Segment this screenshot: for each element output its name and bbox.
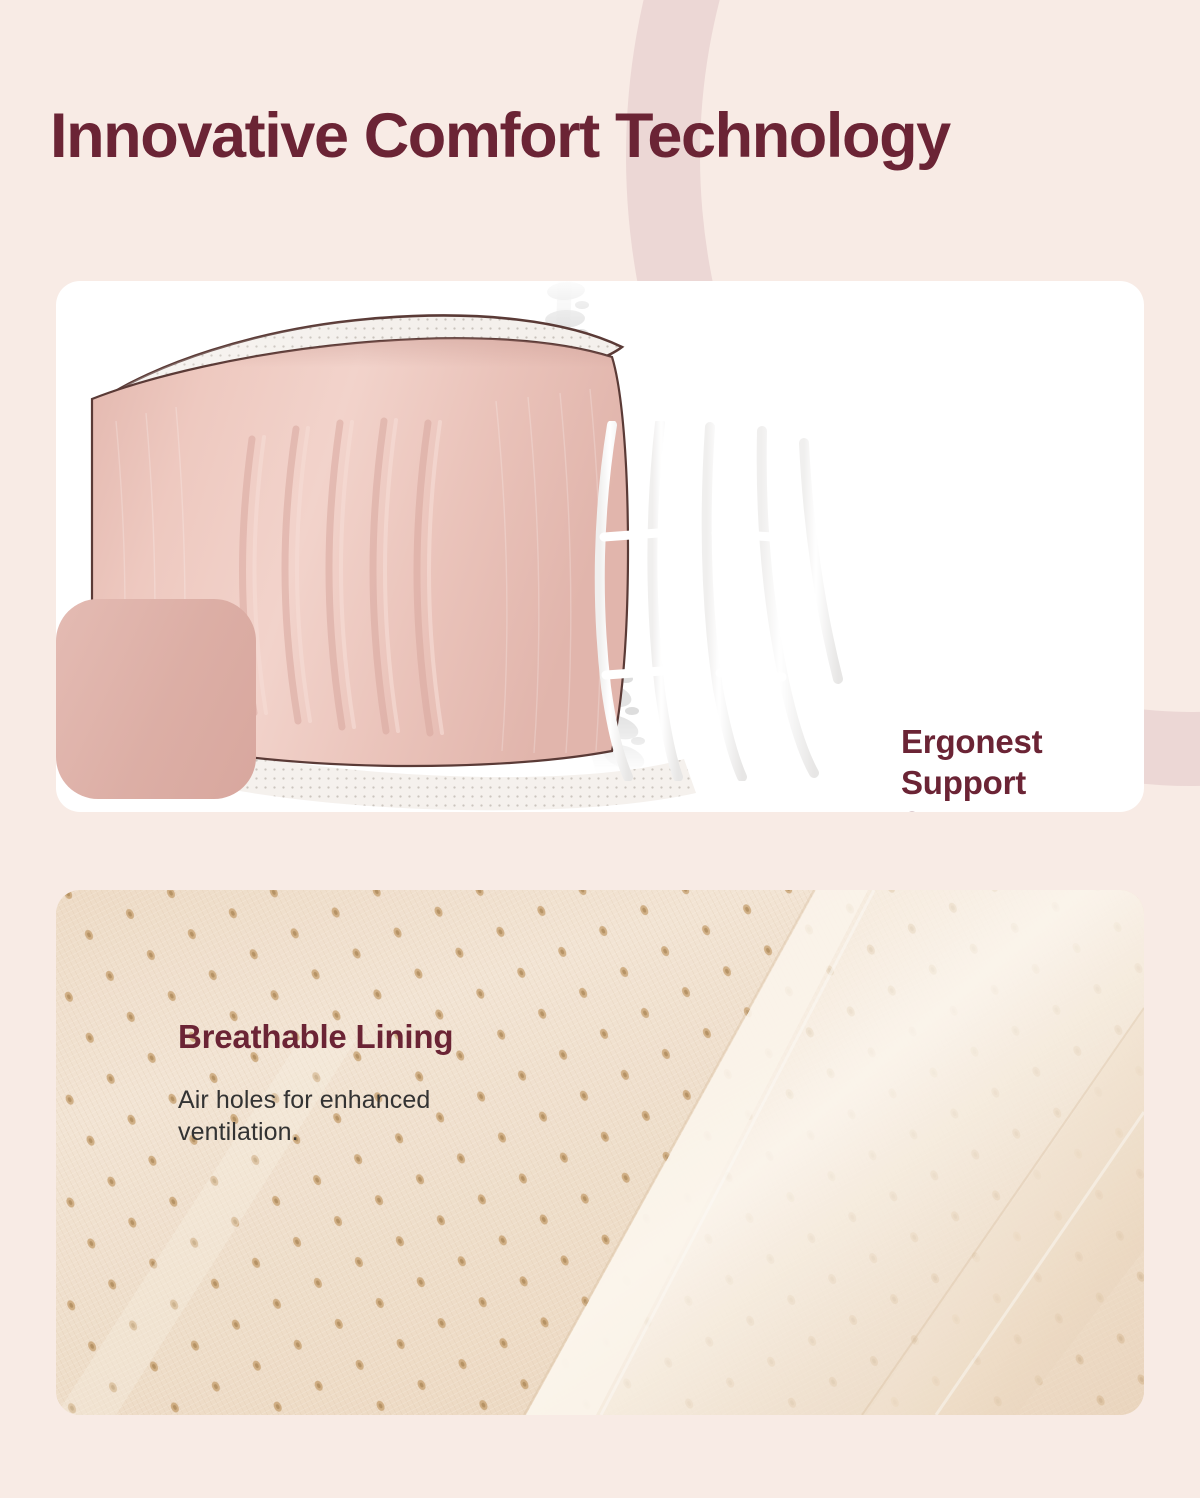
page-title: Innovative Comfort Technology bbox=[50, 104, 1162, 168]
support-feature-text: Ergonest Support Structure™ Reduces back… bbox=[901, 722, 1144, 812]
feature-card-lining bbox=[56, 890, 1144, 1415]
support-stays-graphic bbox=[576, 421, 856, 781]
mesh-fabric-photo bbox=[56, 890, 1144, 1415]
support-feature-title: Ergonest Support Structure™ bbox=[901, 722, 1144, 812]
lining-feature-title: Breathable Lining bbox=[178, 1016, 468, 1058]
lining-feature-description: Air holes for enhanced ventilation. bbox=[178, 1084, 468, 1149]
feature-card-support: Ergonest Support Structure™ Reduces back… bbox=[56, 281, 1144, 812]
lining-feature-text: Breathable Lining Air holes for enhanced… bbox=[178, 1016, 468, 1149]
brace-side-flap bbox=[56, 599, 256, 799]
